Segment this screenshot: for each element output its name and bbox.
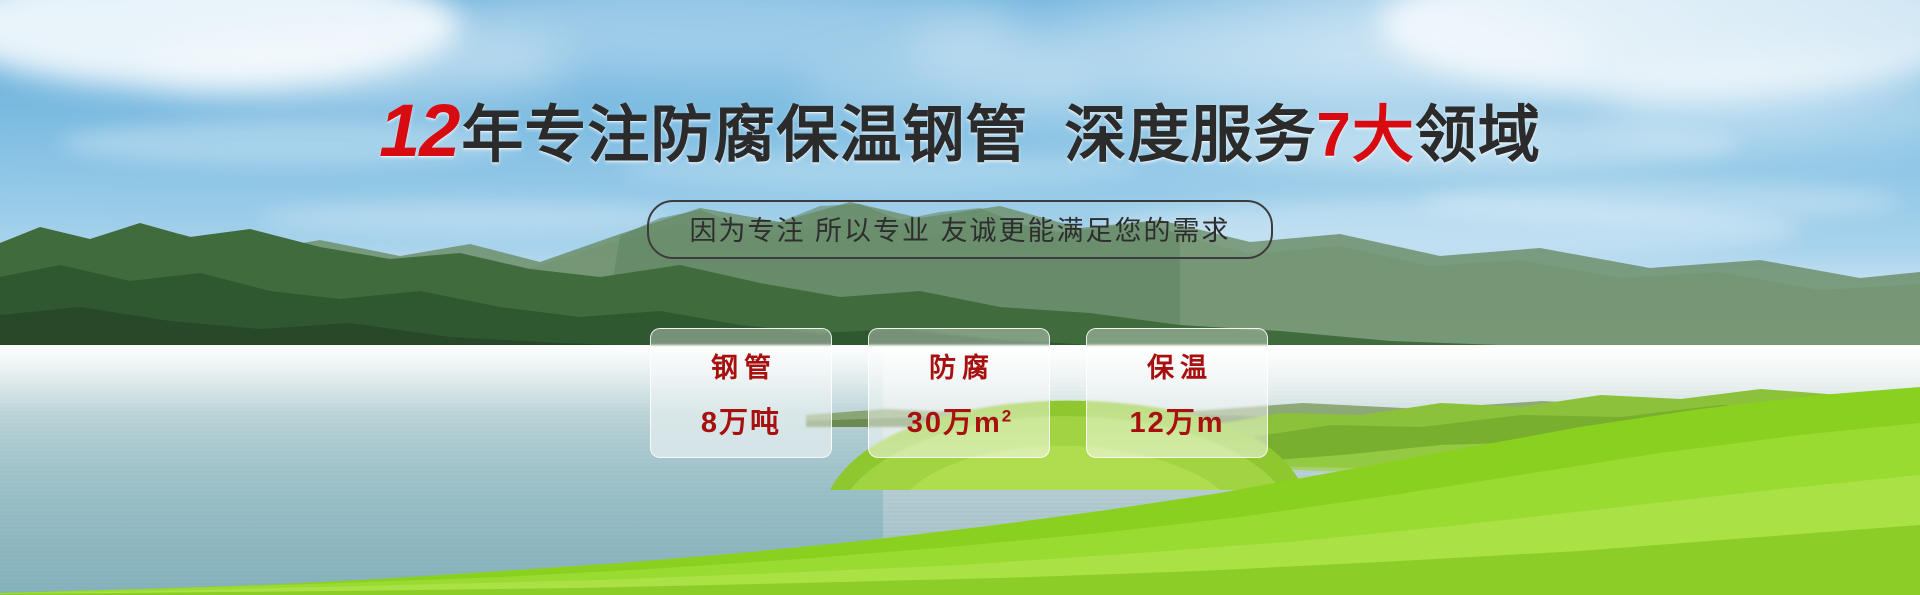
stat-card-title: 保温 [1141,346,1213,385]
stat-card-title: 钢管 [705,346,777,385]
headline-part-3: 领域 [1415,101,1541,170]
hero-banner: 12年专注防腐保温钢管深度服务7大领域 因为专注 所以专业 友诚更能满足您的需求… [0,0,1920,595]
stat-value-text: 12万m [1129,407,1224,439]
subtitle-pill: 因为专注 所以专业 友诚更能满足您的需求 [647,200,1272,259]
headline-years-number: 12 [379,89,461,172]
banner-content: 12年专注防腐保温钢管深度服务7大领域 因为专注 所以专业 友诚更能满足您的需求… [0,0,1920,595]
stat-value-text: 8万吨 [701,407,781,439]
stat-card-list: 钢管 8万吨 防腐 30万m2 保温 12万m [650,328,1268,458]
stat-card-steel-pipe[interactable]: 钢管 8万吨 [650,328,832,458]
stat-value-superscript: 2 [1002,406,1011,425]
stat-card-value: 30万m2 [907,399,1012,441]
stat-card-anticorrosion[interactable]: 防腐 30万m2 [868,328,1050,458]
headline-part-1: 年专注防腐保温钢管 [461,101,1028,170]
stat-card-title: 防腐 [923,346,995,385]
stat-value-text: 30万m [907,407,1002,439]
headline-highlight: 7大 [1316,101,1414,170]
stat-card-value: 8万吨 [701,399,781,441]
stat-card-insulation[interactable]: 保温 12万m [1086,328,1268,458]
headline-part-2: 深度服务 [1064,101,1316,170]
subtitle-wrap: 因为专注 所以专业 友诚更能满足您的需求 [0,200,1920,259]
headline: 12年专注防腐保温钢管深度服务7大领域 [0,84,1920,174]
stat-card-value: 12万m [1129,399,1224,441]
